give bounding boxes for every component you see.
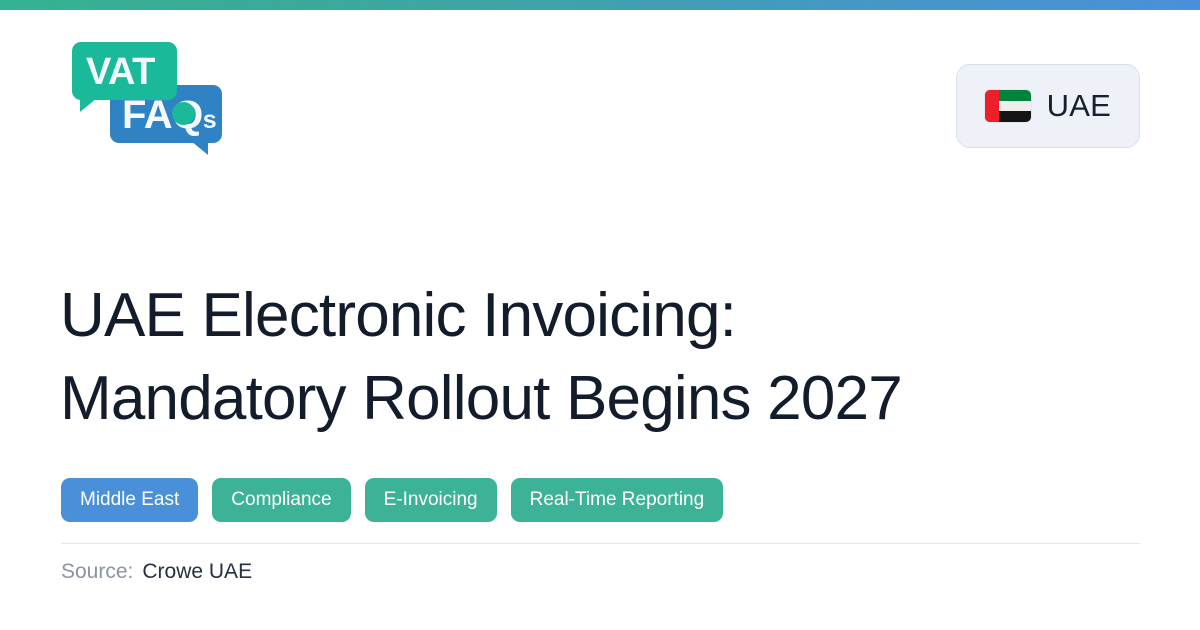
speech-bubble-tail-icon [80, 98, 97, 112]
country-badge[interactable]: UAE [956, 64, 1140, 148]
speech-bubble-vat-icon: VAT [72, 42, 177, 100]
tag-compliance[interactable]: Compliance [212, 478, 350, 522]
logo-q-dot-icon [172, 102, 195, 125]
vatfaqs-logo[interactable]: VAT FAQs [62, 38, 237, 158]
tag-real-time-reporting[interactable]: Real-Time Reporting [511, 478, 724, 522]
uae-flag-icon [985, 90, 1031, 122]
footer-divider [61, 543, 1140, 544]
source-attribution: Source: Crowe UAE [61, 560, 252, 584]
tag-middle-east[interactable]: Middle East [61, 478, 198, 522]
page-title-line-1: UAE Electronic Invoicing: [60, 274, 1140, 358]
tag-e-invoicing[interactable]: E-Invoicing [365, 478, 497, 522]
source-name: Crowe UAE [142, 560, 252, 584]
country-badge-label: UAE [1047, 88, 1111, 124]
tag-list: Middle East Compliance E-Invoicing Real-… [61, 478, 723, 522]
page-title-line-2: Mandatory Rollout Begins 2027 [60, 357, 1140, 441]
page-title: UAE Electronic Invoicing: Mandatory Roll… [60, 274, 1140, 441]
social-card: VAT FAQs UAE UAE Electronic Invoicing: M… [0, 0, 1200, 630]
header: VAT FAQs UAE [0, 10, 1200, 150]
logo-word-vat: VAT [86, 53, 155, 91]
logo-word-faqs: FAQs [122, 95, 216, 135]
source-label: Source: [61, 560, 133, 584]
top-gradient-bar [0, 0, 1200, 10]
speech-bubble-tail-icon [191, 141, 208, 155]
logo-word-faq-suffix: s [203, 106, 216, 134]
flag-band-red [985, 90, 1000, 122]
